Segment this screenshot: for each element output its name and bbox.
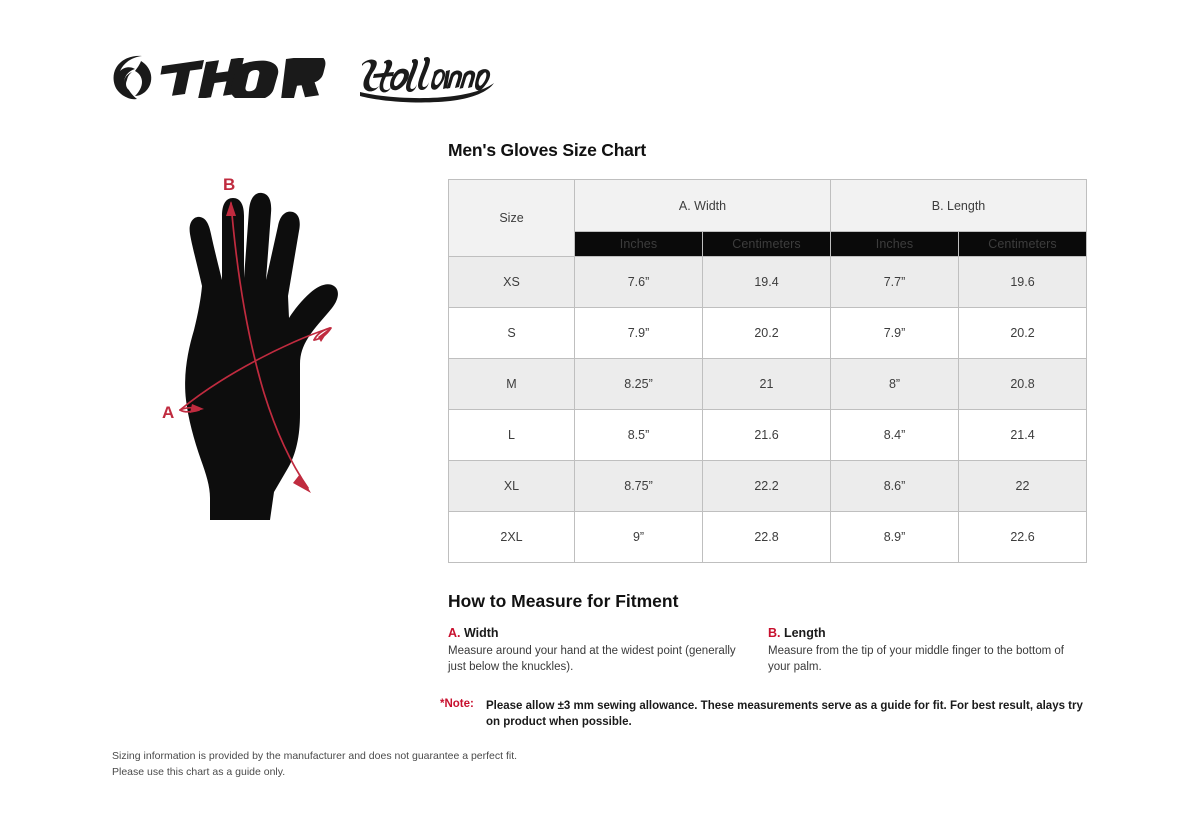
cell-length-in: 7.7” xyxy=(831,257,959,308)
hallman-wordmark xyxy=(354,52,504,104)
table-header-row-groups: Size A. Width B. Length xyxy=(449,180,1087,232)
header-size: Size xyxy=(449,180,575,257)
header-length-centimeters: Centimeters xyxy=(959,232,1087,257)
measure-item-heading: A. Width xyxy=(448,626,740,640)
measure-tag-b: B. xyxy=(768,626,781,640)
table-body: XS 7.6” 19.4 7.7” 19.6 S 7.9” 20.2 7.9” … xyxy=(449,257,1087,563)
cell-size: 2XL xyxy=(449,512,575,563)
measure-description-length: Measure from the tip of your middle fing… xyxy=(768,643,1088,676)
cell-size: M xyxy=(449,359,575,410)
note-row: *Note: Please allow ±3 mm sewing allowan… xyxy=(448,698,1088,731)
header-length-inches: Inches xyxy=(831,232,959,257)
cell-length-cm: 22.6 xyxy=(959,512,1087,563)
header-width-inches: Inches xyxy=(575,232,703,257)
measure-item-width: A. Width Measure around your hand at the… xyxy=(448,626,768,676)
header-group-width: A. Width xyxy=(575,180,831,232)
length-arrowhead-bottom xyxy=(293,474,311,493)
cell-width-in: 8.75” xyxy=(575,461,703,512)
cell-width-in: 7.6” xyxy=(575,257,703,308)
diagram-label-b: B xyxy=(223,175,235,194)
measure-name-width: Width xyxy=(461,626,499,640)
footer-line-2: Please use this chart as a guide only. xyxy=(112,764,517,780)
table-head: Size A. Width B. Length Inches Centimete… xyxy=(449,180,1087,257)
cell-length-in: 8.6” xyxy=(831,461,959,512)
cell-width-cm: 22.8 xyxy=(703,512,831,563)
measure-name-length: Length xyxy=(781,626,826,640)
cell-size: S xyxy=(449,308,575,359)
thor-helmet-icon xyxy=(112,54,158,102)
hand-silhouette-icon xyxy=(185,193,338,520)
cell-width-cm: 21.6 xyxy=(703,410,831,461)
footer-line-1: Sizing information is provided by the ma… xyxy=(112,748,517,764)
note-label: *Note: xyxy=(440,698,486,710)
cell-size: XL xyxy=(449,461,575,512)
page-title: Men's Gloves Size Chart xyxy=(448,140,1088,161)
table-row: M 8.25” 21 8” 20.8 xyxy=(449,359,1087,410)
cell-size: L xyxy=(449,410,575,461)
cell-size: XS xyxy=(449,257,575,308)
measure-item-heading: B. Length xyxy=(768,626,1088,640)
brand-logo-bar xyxy=(112,52,504,104)
cell-length-cm: 22 xyxy=(959,461,1087,512)
size-chart-table: Size A. Width B. Length Inches Centimete… xyxy=(448,179,1087,563)
how-to-measure-columns: A. Width Measure around your hand at the… xyxy=(448,626,1088,676)
cell-length-cm: 21.4 xyxy=(959,410,1087,461)
thor-wordmark xyxy=(160,58,328,98)
header-width-centimeters: Centimeters xyxy=(703,232,831,257)
table-row: 2XL 9” 22.8 8.9” 22.6 xyxy=(449,512,1087,563)
cell-width-in: 7.9” xyxy=(575,308,703,359)
cell-width-cm: 19.4 xyxy=(703,257,831,308)
cell-width-cm: 20.2 xyxy=(703,308,831,359)
measure-item-length: B. Length Measure from the tip of your m… xyxy=(768,626,1088,676)
cell-width-cm: 21 xyxy=(703,359,831,410)
cell-length-in: 8.9” xyxy=(831,512,959,563)
diagram-label-a: A xyxy=(162,403,174,422)
cell-length-cm: 19.6 xyxy=(959,257,1087,308)
table-row: XS 7.6” 19.4 7.7” 19.6 xyxy=(449,257,1087,308)
measure-tag-a: A. xyxy=(448,626,461,640)
cell-width-in: 8.5” xyxy=(575,410,703,461)
hand-measurement-diagram: A B xyxy=(118,168,428,538)
cell-length-cm: 20.8 xyxy=(959,359,1087,410)
footer-disclaimer: Sizing information is provided by the ma… xyxy=(112,748,517,781)
size-chart-content: Men's Gloves Size Chart Size A. Width B.… xyxy=(448,140,1088,731)
table-row: XL 8.75” 22.2 8.6” 22 xyxy=(449,461,1087,512)
cell-width-in: 9” xyxy=(575,512,703,563)
cell-length-in: 8” xyxy=(831,359,959,410)
cell-length-cm: 20.2 xyxy=(959,308,1087,359)
table-row: S 7.9” 20.2 7.9” 20.2 xyxy=(449,308,1087,359)
table-row: L 8.5” 21.6 8.4” 21.4 xyxy=(449,410,1087,461)
note-text: Please allow ±3 mm sewing allowance. The… xyxy=(486,698,1088,731)
how-to-measure-title: How to Measure for Fitment xyxy=(448,591,1088,612)
cell-width-in: 8.25” xyxy=(575,359,703,410)
cell-width-cm: 22.2 xyxy=(703,461,831,512)
cell-length-in: 8.4” xyxy=(831,410,959,461)
measure-description-width: Measure around your hand at the widest p… xyxy=(448,643,740,676)
thor-logo xyxy=(112,54,328,102)
cell-length-in: 7.9” xyxy=(831,308,959,359)
header-group-length: B. Length xyxy=(831,180,1087,232)
